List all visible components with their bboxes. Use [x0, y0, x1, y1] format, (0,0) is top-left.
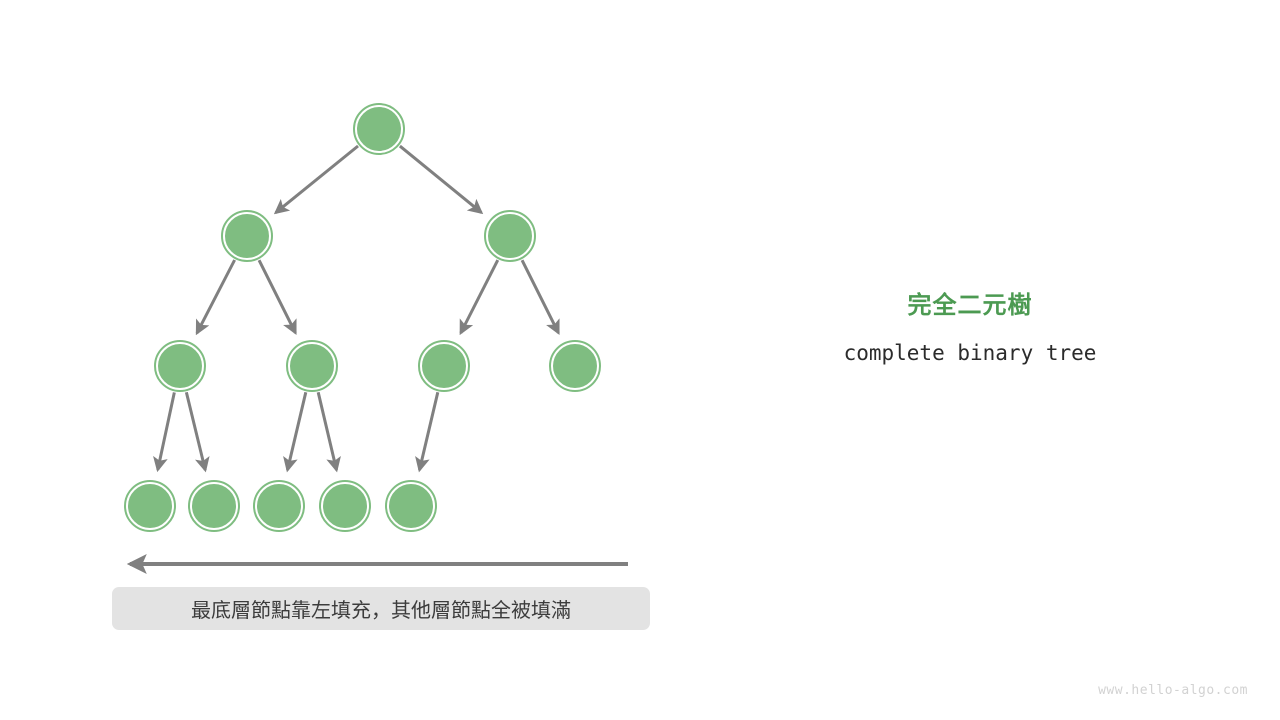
node-core	[554, 345, 597, 388]
diagram-canvas: 完全二元樹 complete binary tree 最底層節點靠左填充，其他層…	[0, 0, 1280, 720]
tree-node	[419, 341, 469, 391]
tree-edge	[461, 260, 498, 333]
tree-edge	[419, 392, 437, 470]
node-core	[324, 485, 367, 528]
node-core	[129, 485, 172, 528]
tree-node	[354, 104, 404, 154]
tree-node	[189, 481, 239, 531]
tree-edge	[197, 260, 235, 333]
node-core	[258, 485, 301, 528]
tree-node	[485, 211, 535, 261]
tree-edge	[276, 146, 358, 213]
node-core	[193, 485, 236, 528]
tree-edge	[522, 260, 558, 333]
legend-block: 完全二元樹 complete binary tree	[780, 292, 1160, 365]
tree-edge	[318, 392, 336, 470]
node-core	[226, 215, 269, 258]
legend-subtitle: complete binary tree	[780, 341, 1160, 365]
tree-node	[125, 481, 175, 531]
tree-node	[222, 211, 272, 261]
node-core	[423, 345, 466, 388]
tree-node	[155, 341, 205, 391]
watermark: www.hello-algo.com	[1098, 683, 1248, 698]
tree-edge	[158, 392, 175, 469]
node-core	[390, 485, 433, 528]
tree-node	[386, 481, 436, 531]
caption-box: 最底層節點靠左填充，其他層節點全被填滿	[112, 587, 650, 630]
node-core	[159, 345, 202, 388]
node-core	[291, 345, 334, 388]
tree-node	[550, 341, 600, 391]
node-core	[489, 215, 532, 258]
tree-edge	[287, 392, 305, 470]
tree-node	[320, 481, 370, 531]
tree-node	[287, 341, 337, 391]
tree-node	[254, 481, 304, 531]
tree-edge-layer	[158, 146, 559, 470]
tree-edge	[186, 392, 205, 470]
tree-edge	[259, 260, 295, 333]
caption-text: 最底層節點靠左填充，其他層節點全被填滿	[191, 594, 571, 623]
node-core	[358, 108, 401, 151]
tree-node-layer	[125, 104, 600, 531]
legend-title: 完全二元樹	[780, 292, 1160, 321]
tree-edge	[400, 146, 481, 213]
